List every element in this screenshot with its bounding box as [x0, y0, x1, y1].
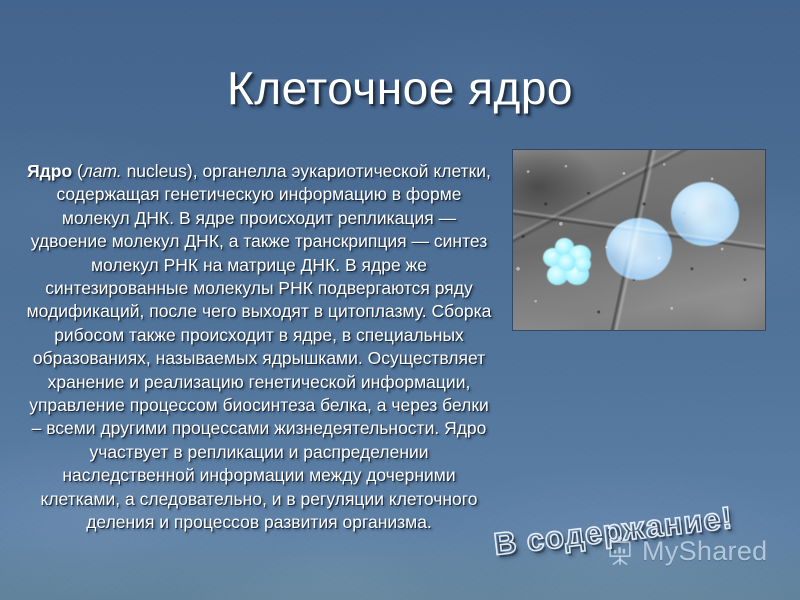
- chromosome-blob: [575, 256, 591, 272]
- presentation-slide: Клеточное ядро Ядро (лат. nucleus), орга…: [0, 0, 800, 600]
- myshared-label: MyShared: [642, 536, 767, 566]
- condensed-chromosomes-mitotic: [541, 238, 597, 290]
- page-title: Клеточное ядро: [0, 60, 800, 116]
- body-paragraph: Ядро (лат. nucleus), органелла эукариоти…: [22, 160, 496, 535]
- microscopy-image: [513, 150, 765, 330]
- chromosome-blob: [558, 254, 576, 271]
- chromatin-texture: [606, 218, 672, 280]
- presentation-easel-icon: [605, 536, 635, 566]
- paren-open: (: [72, 161, 83, 181]
- myshared-watermark: MyShared: [605, 536, 767, 566]
- latin-abbreviation: лат.: [83, 161, 122, 181]
- stained-nucleus-upper-right: [671, 182, 739, 246]
- stained-nucleus-middle: [606, 218, 672, 280]
- term-nucleus: Ядро: [27, 161, 72, 181]
- body-text: органелла эукариотической клетки, содерж…: [27, 161, 492, 532]
- latin-name: nucleus),: [122, 161, 198, 181]
- chromatin-texture: [671, 182, 739, 246]
